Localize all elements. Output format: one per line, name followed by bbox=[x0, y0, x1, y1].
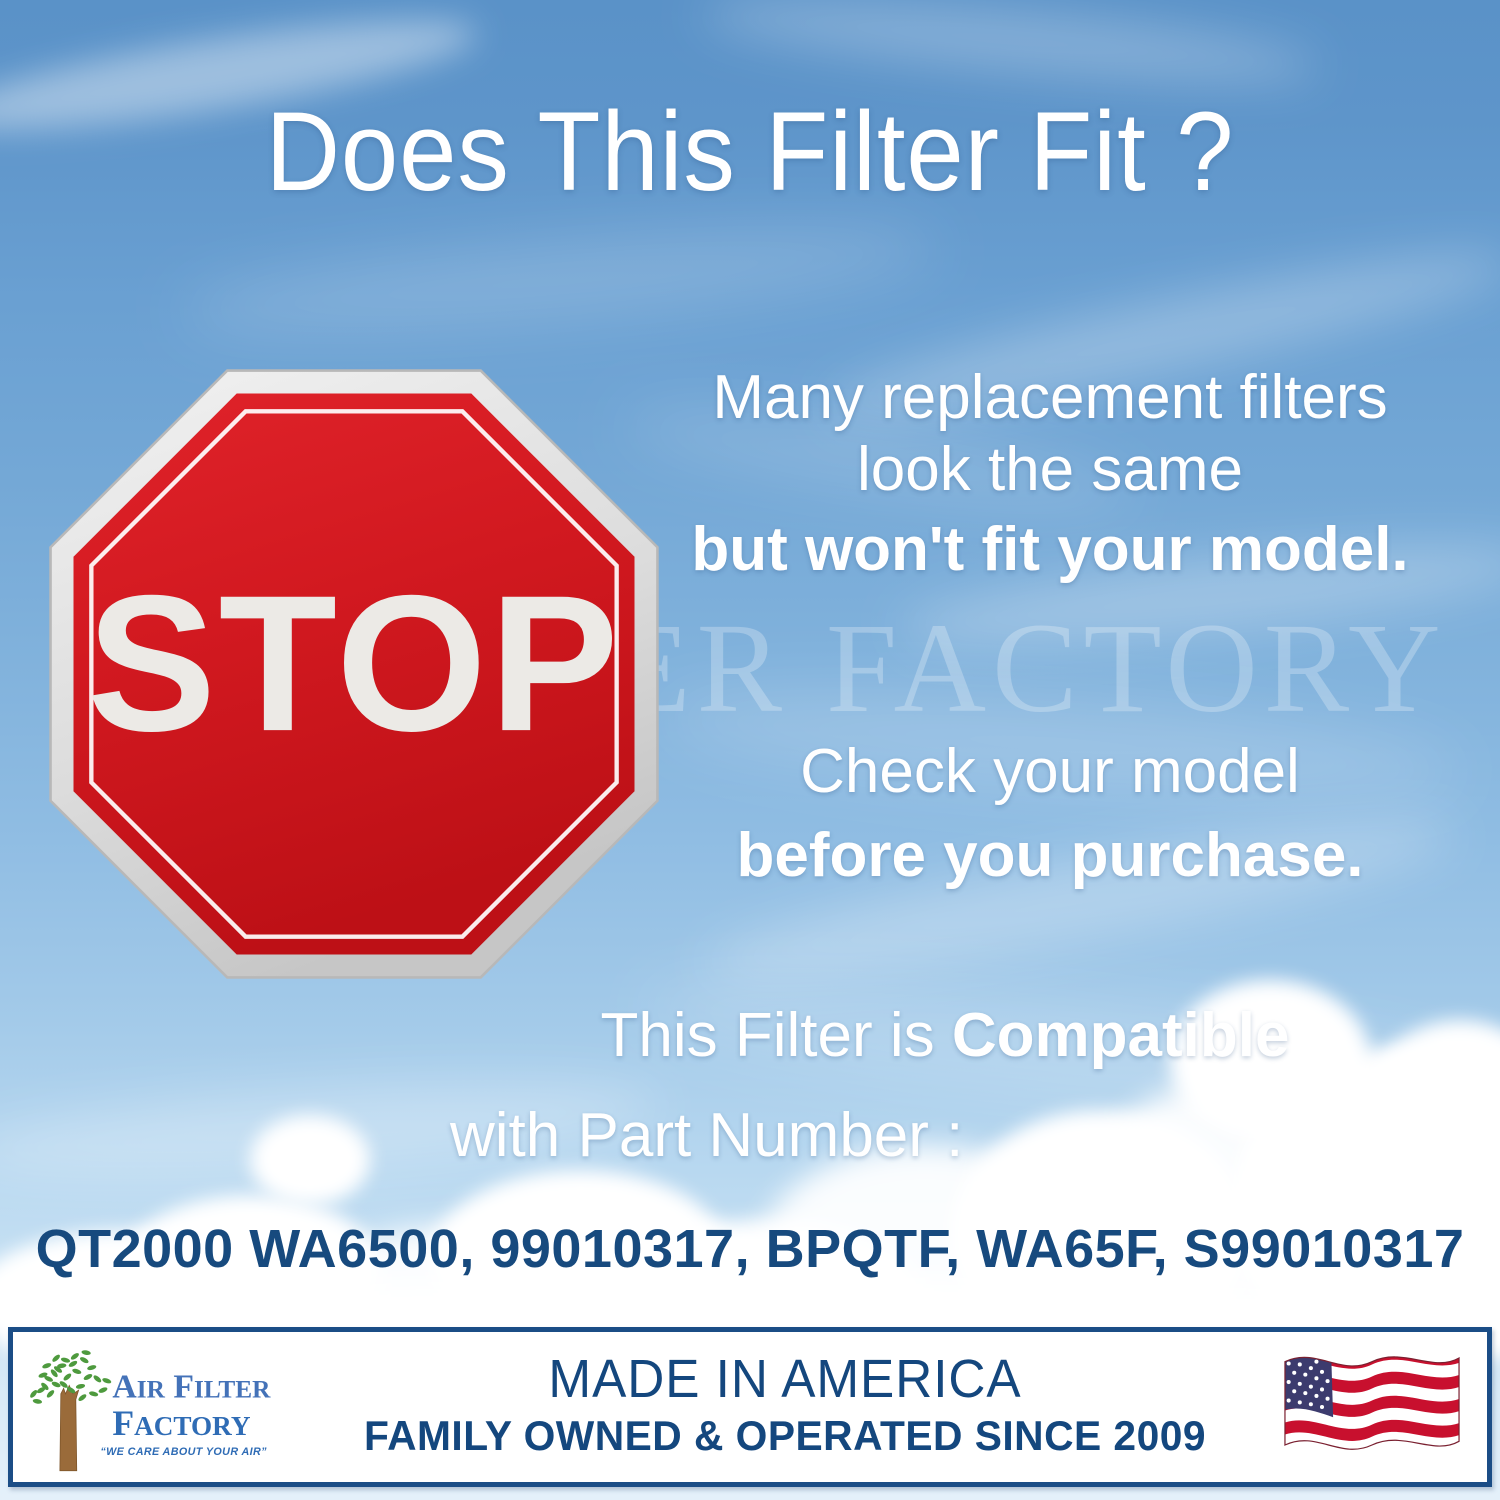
compatibility-line: This Filter is Compatible bbox=[430, 1000, 1460, 1072]
part-numbers-list: QT2000 WA6500, 99010317, BPQTF, WA65F, S… bbox=[0, 1218, 1500, 1280]
logo-line-2: FACTORY bbox=[112, 1403, 250, 1443]
compatibility-prefix: This Filter is bbox=[601, 1001, 952, 1070]
message-line: Many replacement filters bbox=[640, 362, 1460, 434]
message-line-emphasis: before you purchase. bbox=[640, 820, 1460, 892]
cloud-wisp bbox=[178, 207, 942, 353]
message-block-3: This Filter is Compatible with Part Numb… bbox=[430, 1000, 1460, 1172]
footer-text-block: MADE IN AMERICA FAMILY OWNED & OPERATED … bbox=[313, 1351, 1257, 1464]
stop-sign-graphic: STOP bbox=[48, 368, 660, 980]
air-filter-factory-logo: AIR FILTER FACTORY “WE CARE ABOUT YOUR A… bbox=[13, 1332, 313, 1482]
logo-tagline: “WE CARE ABOUT YOUR AIR” bbox=[100, 1446, 267, 1458]
promotional-poster: AIR FILTER FACTORY Does This Filter Fit … bbox=[0, 0, 1500, 1500]
message-line-emphasis: but won't fit your model. bbox=[640, 514, 1460, 586]
footer-bar: AIR FILTER FACTORY “WE CARE ABOUT YOUR A… bbox=[8, 1327, 1492, 1487]
part-number-label: with Part Number : bbox=[430, 1100, 1460, 1172]
tree-trunk-icon bbox=[60, 1385, 79, 1470]
cloud-wisp bbox=[699, 0, 1322, 97]
logo-line-1: AIR FILTER bbox=[112, 1369, 271, 1406]
usa-flag-icon bbox=[1277, 1345, 1467, 1470]
usa-flag-container bbox=[1257, 1332, 1487, 1482]
stop-sign-label: STOP bbox=[87, 556, 621, 772]
message-line: Check your model bbox=[640, 736, 1460, 808]
message-line: look the same bbox=[640, 434, 1460, 506]
family-owned-text: FAMILY OWNED & OPERATED SINCE 2009 bbox=[327, 1413, 1243, 1459]
message-block-2: Check your model before you purchase. bbox=[640, 736, 1460, 892]
page-title: Does This Filter Fit ? bbox=[60, 92, 1440, 213]
made-in-america-text: MADE IN AMERICA bbox=[337, 1351, 1234, 1408]
compatibility-emphasis: Compatible bbox=[952, 1001, 1290, 1070]
message-block-1: Many replacement filters look the same b… bbox=[640, 362, 1460, 586]
